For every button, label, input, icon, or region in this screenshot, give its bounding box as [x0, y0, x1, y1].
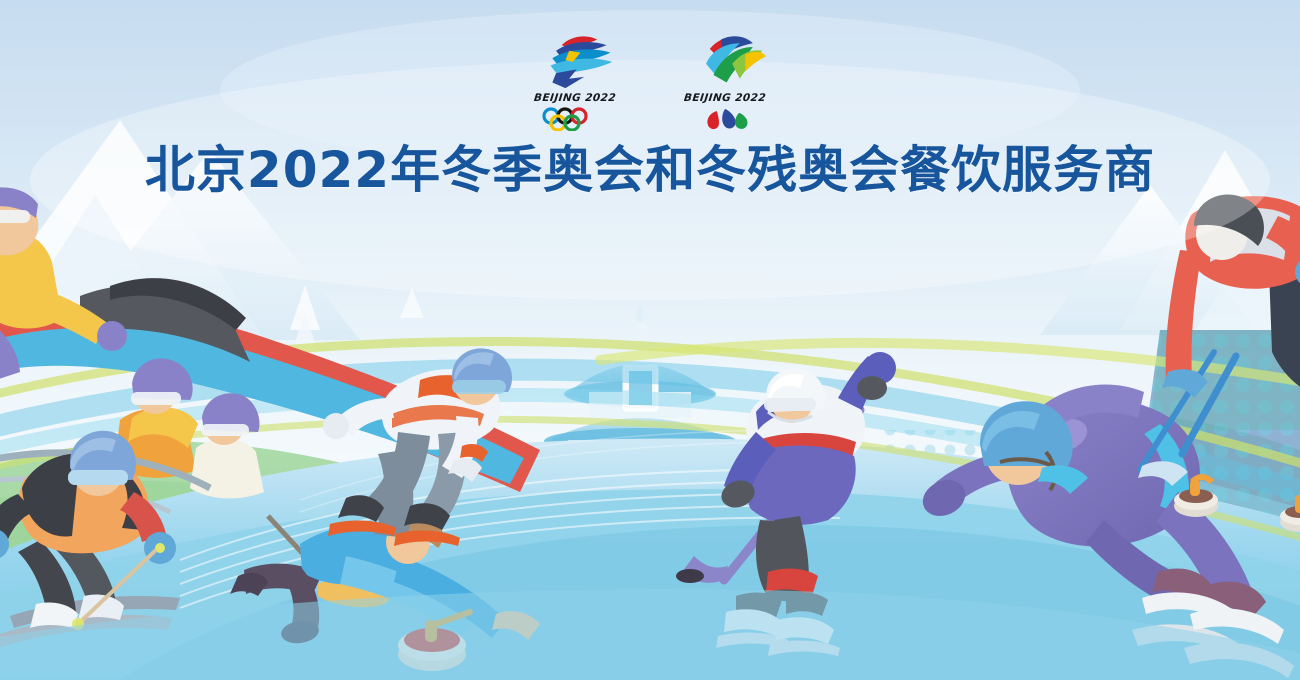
beijing-2022-banner: BEIJING 2022 BEIJING 2022 [0, 0, 1300, 680]
olympic-rings-icon [537, 107, 613, 131]
paralympic-wordmark: BEIJING 2022 [683, 92, 766, 104]
title-block: 北京2022年冬季奥会和冬残奥会餐饮服务商 [0, 142, 1300, 200]
olympic-emblem: BEIJING 2022 [525, 32, 625, 131]
agitos-icon [687, 107, 763, 131]
emblem-row: BEIJING 2022 BEIJING 2022 [0, 32, 1300, 131]
olympic-wordmark: BEIJING 2022 [533, 92, 616, 104]
page-title: 北京2022年冬季奥会和冬残奥会餐饮服务商 [0, 142, 1300, 200]
leap-emblem-icon [678, 32, 772, 90]
paralympic-emblem: BEIJING 2022 [675, 32, 775, 131]
winter-dream-emblem-icon [528, 32, 622, 90]
